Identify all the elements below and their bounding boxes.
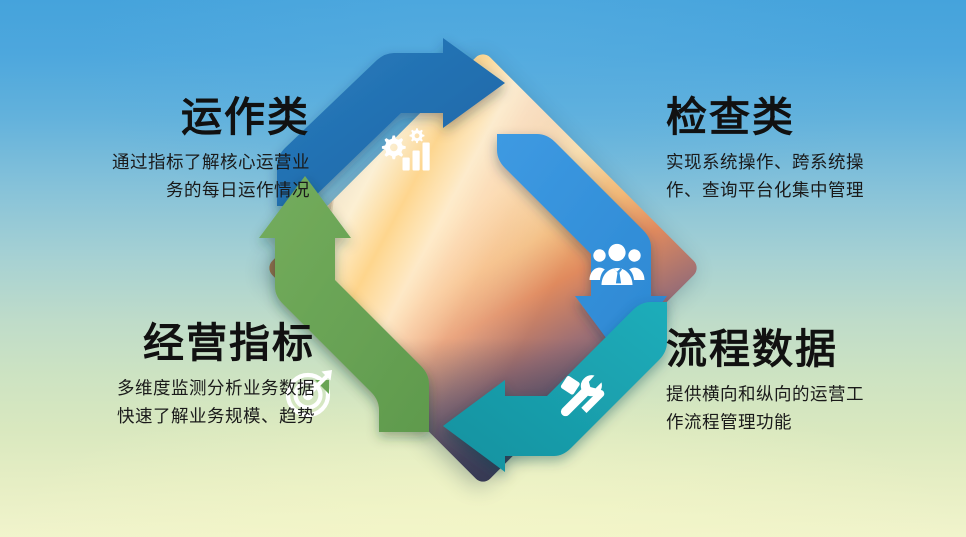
description-inspect-line2: 作、查询平台化集中管理 bbox=[666, 176, 934, 204]
heading-process: 流程数据 bbox=[666, 328, 934, 371]
quadrant-text-process: 流程数据 提供横向和纵向的运营工 作流程管理功能 bbox=[666, 328, 934, 437]
description-metric-line2: 快速了解业务规模、趋势 bbox=[30, 402, 315, 430]
description-inspect: 实现系统操作、跨系统操 作、查询平台化集中管理 bbox=[666, 148, 934, 205]
cycle-diagram bbox=[265, 50, 701, 486]
description-metric-line1: 多维度监测分析业务数据 bbox=[30, 374, 315, 402]
quadrant-text-metric: 经营指标 多维度监测分析业务数据 快速了解业务规模、趋势 bbox=[30, 322, 315, 431]
heading-metric: 经营指标 bbox=[30, 322, 315, 365]
heading-operate: 运作类 bbox=[30, 96, 310, 139]
quadrant-text-operate: 运作类 通过指标了解核心运营业 务的每日运作情况 bbox=[30, 96, 310, 205]
description-inspect-line1: 实现系统操作、跨系统操 bbox=[666, 148, 934, 176]
heading-inspect: 检查类 bbox=[666, 96, 934, 139]
quadrant-text-inspect: 检查类 实现系统操作、跨系统操 作、查询平台化集中管理 bbox=[666, 96, 934, 205]
description-metric: 多维度监测分析业务数据 快速了解业务规模、趋势 bbox=[30, 374, 315, 431]
description-operate-line2: 务的每日运作情况 bbox=[30, 176, 310, 204]
description-process-line2: 作流程管理功能 bbox=[666, 408, 934, 436]
description-operate-line1: 通过指标了解核心运营业 bbox=[30, 148, 310, 176]
description-process-line1: 提供横向和纵向的运营工 bbox=[666, 380, 934, 408]
description-operate: 通过指标了解核心运营业 务的每日运作情况 bbox=[30, 148, 310, 205]
description-process: 提供横向和纵向的运营工 作流程管理功能 bbox=[666, 380, 934, 437]
